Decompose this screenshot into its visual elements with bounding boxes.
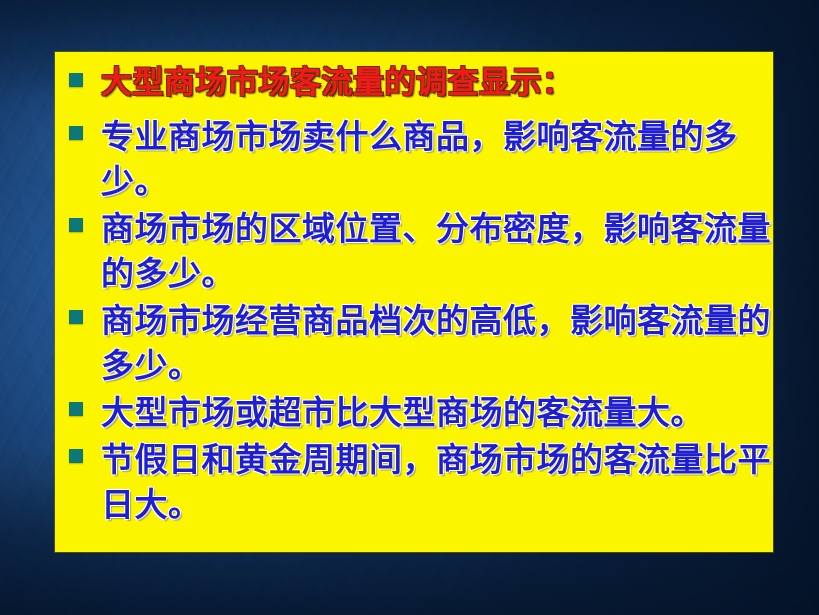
bullet-item-5: 节假日和黄金周期间，商场市场的客流量比平日大。 — [55, 437, 773, 527]
bullet-text-4: 大型市场或超市比大型商场的客流量大。 — [101, 390, 773, 435]
square-bullet-icon — [69, 218, 83, 232]
square-bullet-icon — [69, 449, 83, 463]
bullet-item-3: 商场市场经营商品档次的高低，影响客流量的多少。 — [55, 298, 773, 388]
square-bullet-icon — [69, 310, 83, 324]
bullet-item-heading: 大型商场市场客流量的调查显示： — [55, 62, 773, 104]
bullet-text-1: 专业商场市场卖什么商品，影响客流量的多少。 — [101, 114, 773, 204]
bullet-text-2: 商场市场的区域位置、分布密度，影响客流量的多少。 — [101, 206, 773, 296]
bullet-list: 大型商场市场客流量的调查显示： 专业商场市场卖什么商品，影响客流量的多少。 商场… — [55, 52, 773, 527]
square-bullet-icon — [69, 402, 83, 416]
bullet-text-3: 商场市场经营商品档次的高低，影响客流量的多少。 — [101, 298, 773, 388]
bullet-text-5: 节假日和黄金周期间，商场市场的客流量比平日大。 — [101, 437, 773, 527]
bullet-item-1: 专业商场市场卖什么商品，影响客流量的多少。 — [55, 114, 773, 204]
bullet-text-heading: 大型商场市场客流量的调查显示： — [101, 62, 773, 104]
square-bullet-icon — [69, 126, 83, 140]
square-bullet-icon — [69, 73, 83, 87]
slide-canvas: 大型商场市场客流量的调查显示： 专业商场市场卖什么商品，影响客流量的多少。 商场… — [0, 0, 819, 615]
content-panel: 大型商场市场客流量的调查显示： 专业商场市场卖什么商品，影响客流量的多少。 商场… — [55, 52, 773, 552]
bullet-item-4: 大型市场或超市比大型商场的客流量大。 — [55, 390, 773, 435]
bullet-item-2: 商场市场的区域位置、分布密度，影响客流量的多少。 — [55, 206, 773, 296]
